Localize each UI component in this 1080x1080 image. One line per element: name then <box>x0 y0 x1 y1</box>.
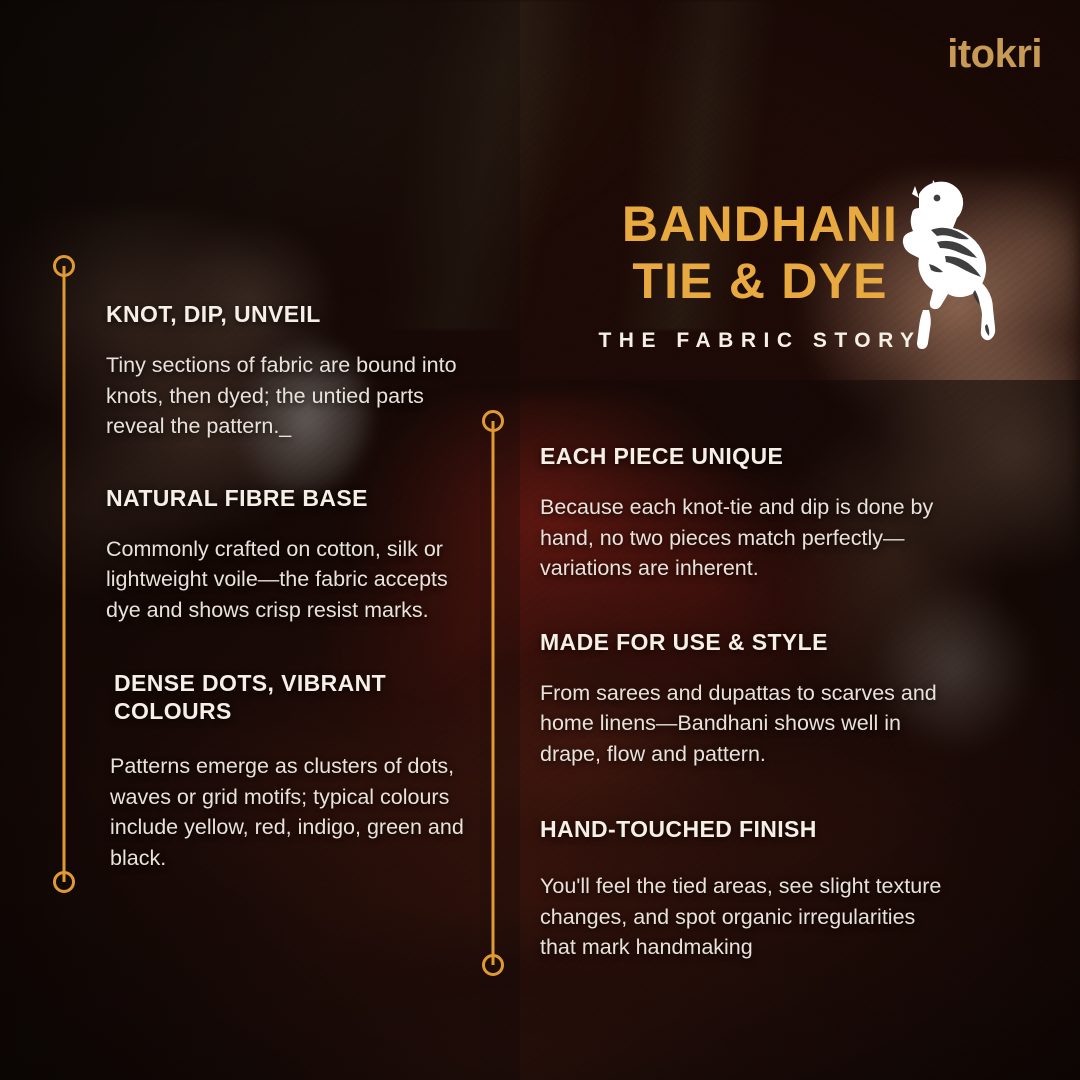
rail-stem <box>63 266 66 882</box>
fact-item: MADE FOR USE & STYLE From sarees and dup… <box>540 628 952 770</box>
fact-title: MADE FOR USE & STYLE <box>540 628 952 656</box>
fact-title: NATURAL FIBRE BASE <box>106 484 478 512</box>
fact-item: EACH PIECE UNIQUE Because each knot-tie … <box>540 442 952 584</box>
fact-item: HAND-TOUCHED FINISH You'll feel the tied… <box>540 815 952 963</box>
title-line-1: BANDHANI <box>560 196 960 253</box>
fact-body: Because each knot-tie and dip is done by… <box>540 492 952 584</box>
fact-item: DENSE DOTS, VIBRANT COLOURS Patterns eme… <box>106 669 478 873</box>
fact-body: Commonly crafted on cotton, silk or ligh… <box>106 534 478 626</box>
left-connector-rail <box>52 255 76 893</box>
fact-body: Tiny sections of fabric are bound into k… <box>106 350 478 442</box>
title-line-2: TIE & DYE <box>560 253 960 310</box>
fact-body: You'll feel the tied areas, see slight t… <box>540 871 952 963</box>
fact-body: Patterns emerge as clusters of dots, wav… <box>106 751 478 873</box>
brand-logo[interactable]: itokri <box>947 34 1042 74</box>
fact-item: KNOT, DIP, UNVEIL Tiny sections of fabri… <box>106 300 478 442</box>
fact-title: DENSE DOTS, VIBRANT COLOURS <box>106 669 478 725</box>
rail-node-bottom <box>53 871 75 893</box>
left-text-column: KNOT, DIP, UNVEIL Tiny sections of fabri… <box>106 300 478 873</box>
fact-title: EACH PIECE UNIQUE <box>540 442 952 470</box>
fact-body: From sarees and dupattas to scarves and … <box>540 678 952 770</box>
middle-connector-rail <box>481 410 505 976</box>
fact-title: HAND-TOUCHED FINISH <box>540 815 952 843</box>
subtitle: THE FABRIC STORY <box>560 329 960 353</box>
title-block: BANDHANI TIE & DYE THE FABRIC STORY <box>560 196 960 353</box>
right-text-column: EACH PIECE UNIQUE Because each knot-tie … <box>540 442 952 963</box>
fact-title: KNOT, DIP, UNVEIL <box>106 300 478 328</box>
rail-node-bottom <box>482 954 504 976</box>
infographic-poster: itokri BANDHANI TIE & DYE THE FABRIC STO… <box>0 0 1080 1080</box>
rail-stem <box>492 421 495 965</box>
fact-item: NATURAL FIBRE BASE Commonly crafted on c… <box>106 484 478 626</box>
